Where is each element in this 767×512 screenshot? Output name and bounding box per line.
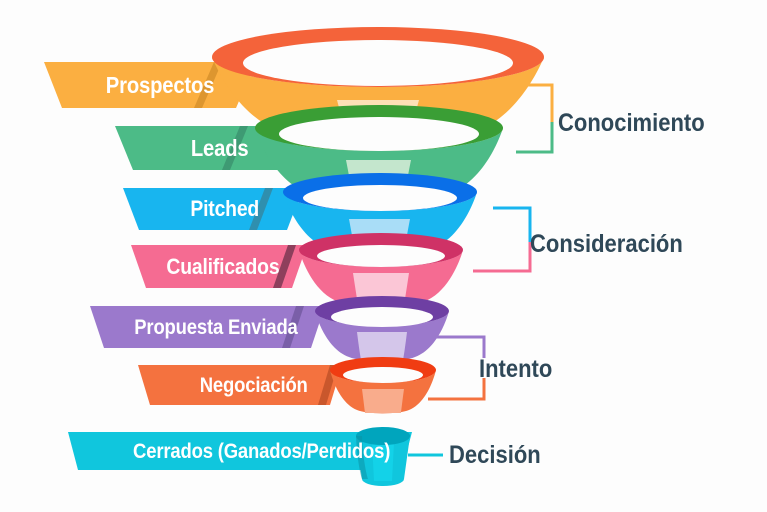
stage-ribbon-prospectos[interactable]: Prospectos — [44, 62, 240, 108]
group-label-decision[interactable]: Decisión — [449, 443, 553, 468]
stage-label-pitched: Pitched — [190, 198, 259, 220]
stage-label-cualificados: Cualificados — [166, 256, 279, 278]
stage-label-leads: Leads — [190, 137, 248, 160]
bracket-arm-bottom-conocimiento — [516, 122, 552, 152]
bracket-arm-top-consideracion — [493, 208, 530, 242]
group-label-intento[interactable]: Intento — [479, 357, 562, 382]
stage-ribbon-propuesta-enviada[interactable]: Propuesta Enviada — [90, 306, 314, 348]
group-label-consideracion-text: Consideración — [530, 232, 683, 257]
group-label-conocimiento-text: Conocimiento — [558, 111, 705, 136]
bracket-arm-top-intento — [436, 337, 484, 358]
funnel-segment-cualificados — [299, 233, 463, 307]
funnel-segment-propuesta-enviada — [315, 296, 449, 361]
group-label-intento-text: Intento — [479, 357, 552, 382]
bracket-arm-bottom-intento — [428, 378, 484, 399]
stage-label-negociacion: Negociación — [200, 375, 308, 396]
group-label-decision-text: Decisión — [449, 443, 541, 468]
stage-ribbon-cualificados[interactable]: Cualificados — [131, 245, 299, 288]
group-label-consideracion[interactable]: Consideración — [530, 232, 704, 257]
funnel-segment-negociacion — [330, 357, 436, 413]
stage-ribbon-pitched[interactable]: Pitched — [123, 188, 293, 230]
stage-ribbon-negociacion[interactable]: Negociación — [138, 365, 330, 405]
group-label-conocimiento[interactable]: Conocimiento — [558, 111, 725, 136]
stage-label-prospectos: Prospectos — [106, 74, 214, 97]
stage-label-propuesta-enviada: Propuesta Enviada — [135, 317, 298, 338]
stage-ribbon-cerrados[interactable]: Cerrados (Ganados/Perdidos) — [68, 432, 404, 470]
stage-ribbon-leads[interactable]: Leads — [115, 126, 286, 170]
stage-label-cerrados: Cerrados (Ganados/Perdidos) — [133, 441, 390, 462]
funnel-diagram: Prospectos Leads Pitched Cualificados Pr… — [0, 0, 767, 512]
bracket-arm-bottom-consideracion — [473, 242, 530, 271]
